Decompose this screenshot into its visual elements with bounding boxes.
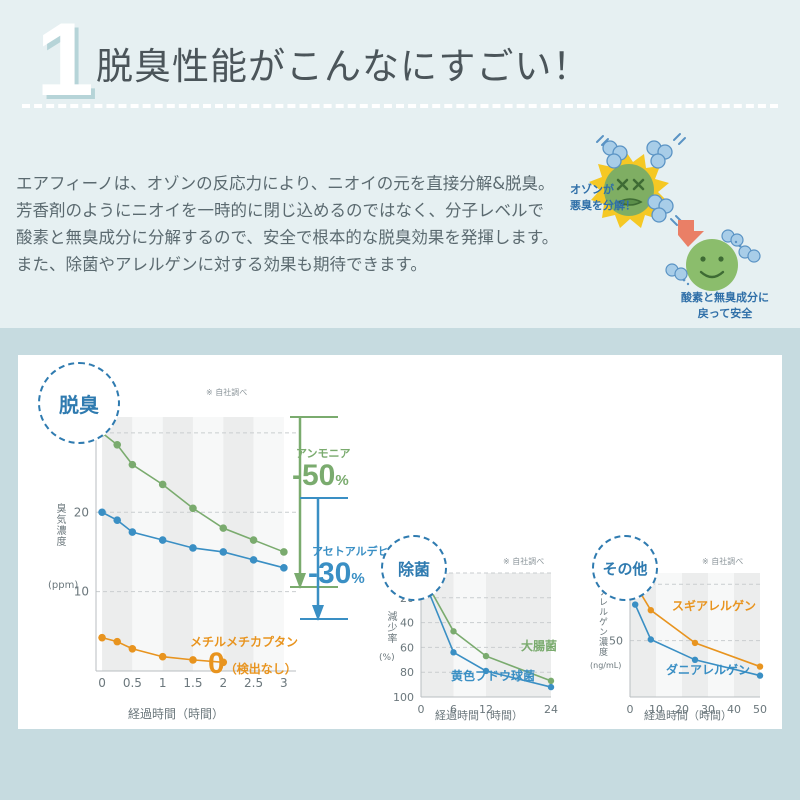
ozone-caption: オゾンが 悪臭を分解！ xyxy=(570,182,636,214)
page-header: 1 脱臭性能がこんなにすごい！ xyxy=(0,0,800,120)
svg-text:1: 1 xyxy=(159,676,167,690)
safe-character xyxy=(686,239,738,291)
annotation-acetaldehyde-unit: % xyxy=(351,570,364,587)
page-root: 1 脱臭性能がこんなにすごい！ エアフィーノは、オゾンの反応力により、ニオイの元… xyxy=(0,0,800,800)
callout-mercaptan-value: 0（検出なし） xyxy=(208,647,297,681)
svg-text:50: 50 xyxy=(609,635,623,648)
svg-text:0: 0 xyxy=(418,703,425,716)
badge-sterilize: 除菌 xyxy=(381,535,447,601)
safe-caption-line-1: 酸素と無臭成分に xyxy=(655,290,795,306)
page-title: 脱臭性能がこんなにすごい！ xyxy=(96,36,590,90)
ylabel-sterilize: 減少率 xyxy=(383,611,398,644)
xlabel-deodorize: 経過時間（時間） xyxy=(128,705,224,722)
svg-text:100: 100 xyxy=(393,691,414,704)
lead-line-3: 酸素と無臭成分に分解するので、安全で根本的な脱臭効果を発揮します。 xyxy=(16,224,576,251)
svg-text:80: 80 xyxy=(400,666,414,679)
ozone-caption-line-1: オゾンが xyxy=(570,182,636,198)
ylabel-other: アレルゲン濃度 xyxy=(596,587,609,657)
series-label-staph: 黄色ブドウ球菌 xyxy=(451,667,535,684)
safe-caption-line-2: 戻って安全 xyxy=(655,306,795,322)
yunit-sterilize: (%) xyxy=(379,653,395,663)
lead-line-1: エアフィーノは、オゾンの反応力により、ニオイの元を直接分解&脱臭。 xyxy=(16,170,576,197)
annotation-ammonia-unit: % xyxy=(335,472,348,489)
series-label-ecoli: 大腸菌 xyxy=(521,637,557,654)
callout-mercaptan-sub: （検出なし） xyxy=(225,662,297,676)
badge-other: その他 xyxy=(592,535,658,601)
ylabel-deodorize: 臭気濃度 xyxy=(52,503,67,547)
section-number: 1 xyxy=(36,8,92,112)
safe-caption: 酸素と無臭成分に 戻って安全 xyxy=(655,290,795,322)
svg-text:0: 0 xyxy=(98,676,106,690)
lead-paragraph: エアフィーノは、オゾンの反応力により、ニオイの元を直接分解&脱臭。 芳香剤のよう… xyxy=(16,170,576,278)
lead-line-4: また、除菌やアレルゲンに対する効果も期待できます。 xyxy=(16,251,576,278)
xlabel-sterilize: 経過時間（時間） xyxy=(435,707,523,723)
svg-text:0: 0 xyxy=(627,703,634,716)
yunit-other: (ng/mL) xyxy=(590,661,621,670)
note-other: ※ 自社調べ xyxy=(702,556,743,567)
annotation-ammonia-value: -50% xyxy=(292,459,349,493)
svg-text:50: 50 xyxy=(753,703,767,716)
chart-sterilize: 除菌 ※ 自社調べ 020406080100061224 減少率 (%) 経過時… xyxy=(373,535,588,729)
series-label-cedar: スギアレルゲン xyxy=(672,597,756,614)
note-deodorize: ※ 自社調べ xyxy=(206,387,247,398)
annotation-acetaldehyde-value: -30% xyxy=(308,557,365,591)
ozone-illustration: オゾンが 悪臭を分解！ 酸素と無臭成分に 戻って安全 xyxy=(570,130,795,320)
svg-text:24: 24 xyxy=(544,703,558,716)
series-label-mite: ダニアレルゲン xyxy=(666,661,750,678)
svg-text:40: 40 xyxy=(400,617,414,630)
header-divider xyxy=(22,104,778,108)
svg-text:1.5: 1.5 xyxy=(183,676,202,690)
svg-text:0.5: 0.5 xyxy=(123,676,142,690)
note-sterilize: ※ 自社調べ xyxy=(503,556,544,567)
yunit-deodorize: (ppm) xyxy=(48,580,78,591)
svg-text:20: 20 xyxy=(74,505,89,519)
lead-line-2: 芳香剤のようにニオイを一時的に閉じ込めるのではなく、分子レベルで xyxy=(16,197,576,224)
ozone-caption-line-2: 悪臭を分解！ xyxy=(570,198,636,214)
xlabel-other: 経過時間（時間） xyxy=(644,707,732,723)
charts-card: 脱臭 ※ 自社調べ 10203000.511.522.53 臭気濃度 (ppm)… xyxy=(18,355,782,729)
chart-other: その他 ※ 自社調べ 5010001020304050 アレルゲン濃度 (ng/… xyxy=(590,535,782,729)
svg-text:60: 60 xyxy=(400,641,414,654)
badge-deodorize: 脱臭 xyxy=(38,362,120,444)
chart-deodorize: 脱臭 ※ 自社調べ 10203000.511.522.53 臭気濃度 (ppm)… xyxy=(18,355,378,729)
